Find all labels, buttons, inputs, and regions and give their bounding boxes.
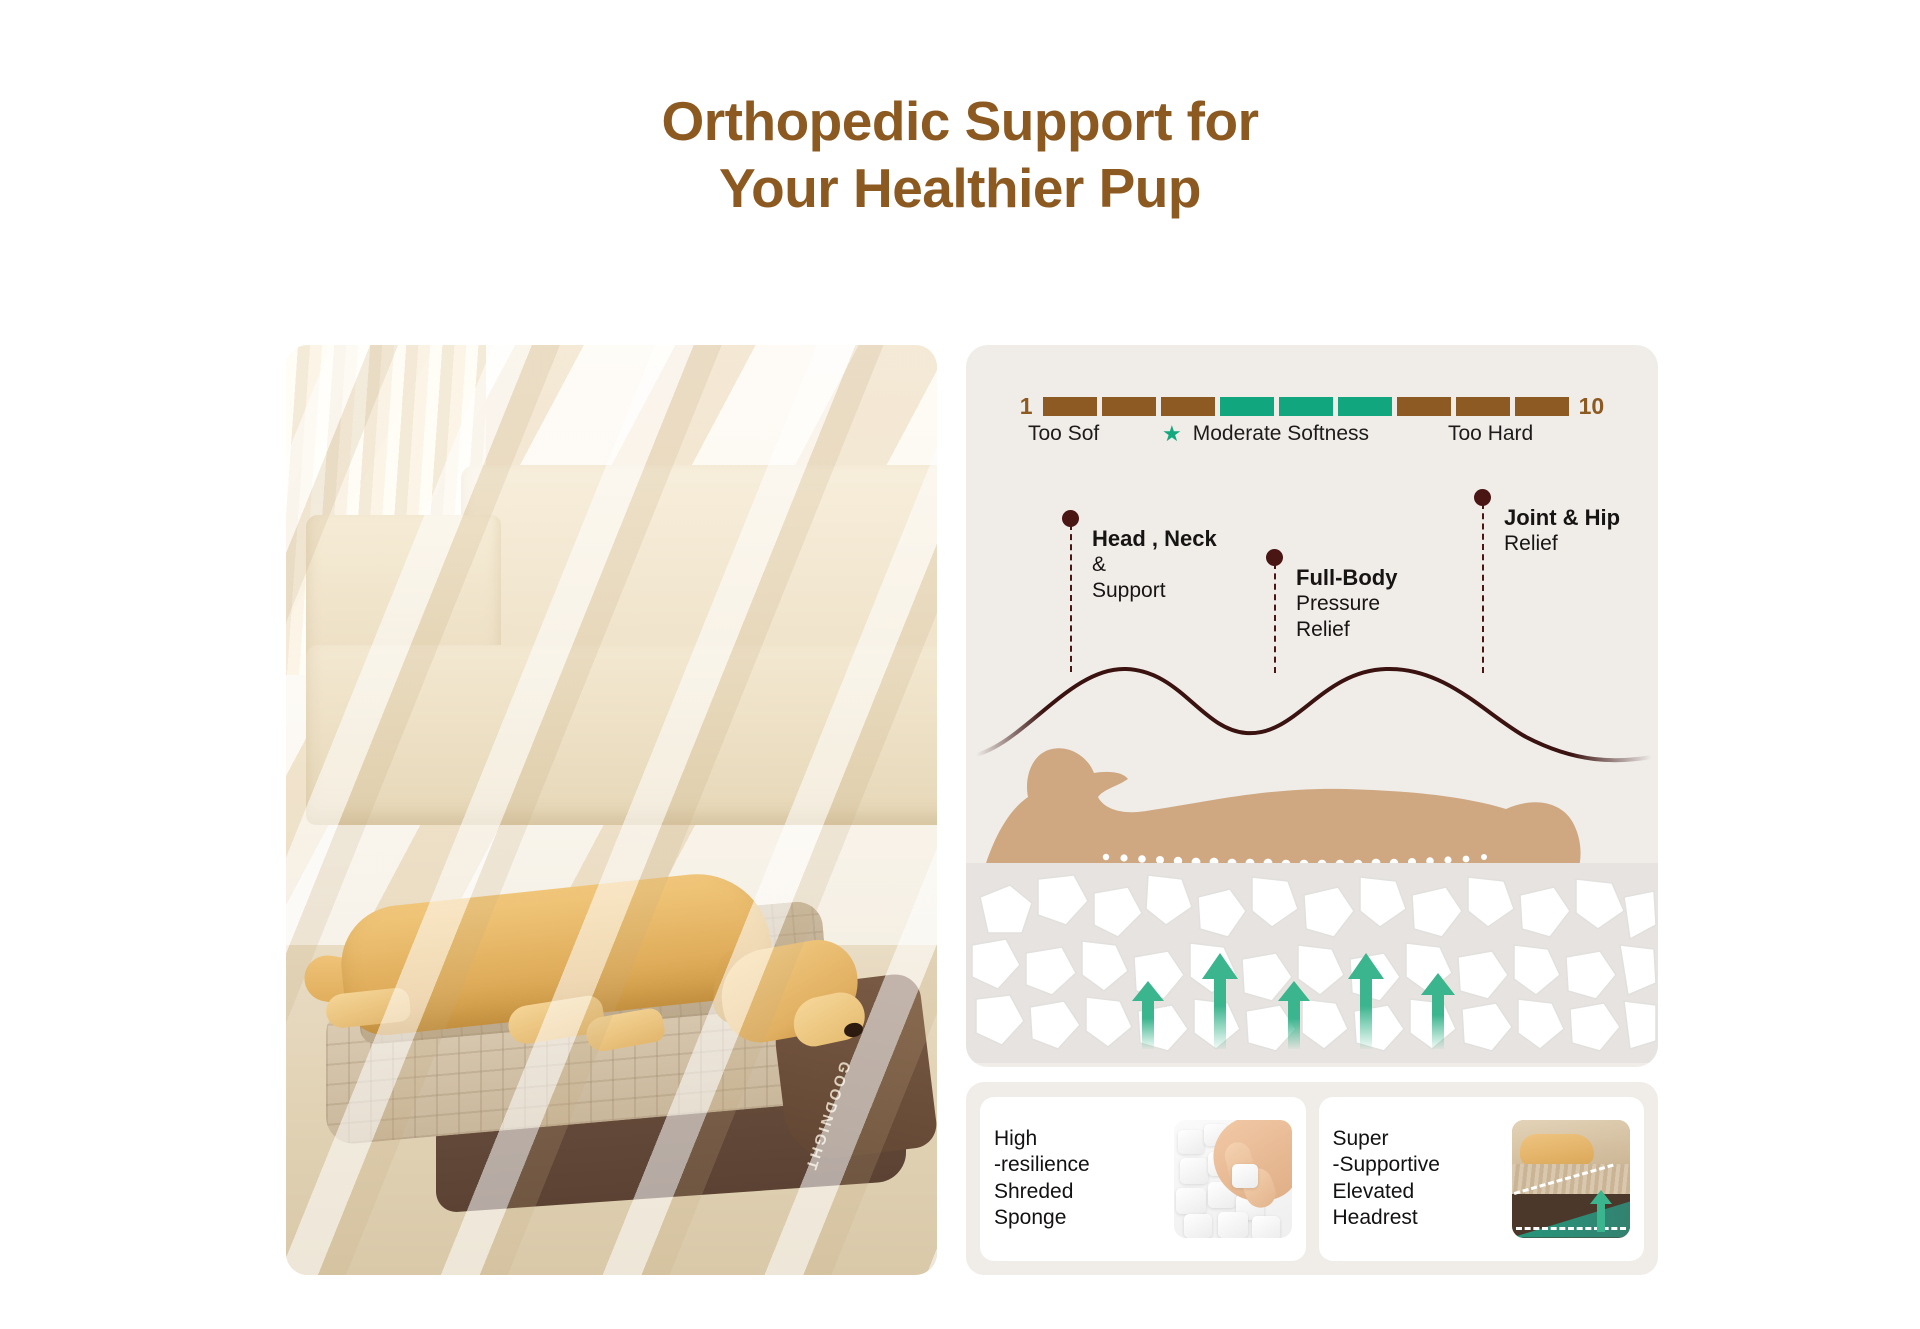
- shredded-foam-layer: [966, 853, 1658, 1067]
- scale-segment-8: [1456, 397, 1510, 416]
- callout-title: Full-Body: [1296, 565, 1397, 591]
- product-photo: GOODNIGHT: [286, 345, 937, 1275]
- headrest-up-arrow-icon: [1588, 1188, 1614, 1232]
- headrest-thumbnail: [1512, 1120, 1630, 1238]
- callout-title: Joint & Hip: [1504, 505, 1620, 531]
- page-title: Orthopedic Support for Your Healthier Pu…: [0, 88, 1920, 222]
- page-title-line-2: Your Healthier Pup: [0, 155, 1920, 222]
- feature-cards-container: High -resilience Shreded Sponge Super -S…: [966, 1082, 1658, 1275]
- sponge-thumbnail: [1174, 1120, 1292, 1238]
- orthopedic-diagram-panel: 1 10 Too Sof ★ Moderate Softness Too Har…: [966, 345, 1658, 1067]
- scale-segment-7: [1397, 397, 1451, 416]
- scale-segment-9: [1515, 397, 1569, 416]
- page-title-line-1: Orthopedic Support for: [0, 88, 1920, 155]
- headrest-dog: [1520, 1134, 1594, 1166]
- scale-min-label: 1: [1020, 393, 1033, 420]
- scale-bar: [1043, 397, 1569, 416]
- scale-segment-1: [1043, 397, 1097, 416]
- scale-segment-4: [1220, 397, 1274, 416]
- star-icon: ★: [1162, 423, 1182, 445]
- scale-label-moderate-group: ★ Moderate Softness: [1162, 422, 1369, 446]
- scale-label-moderate: Moderate Softness: [1193, 422, 1369, 446]
- feature-card-label: High -resilience Shreded Sponge: [994, 1126, 1164, 1230]
- sofa-backrest: [461, 465, 937, 670]
- callout-subtitle: Relief: [1504, 531, 1558, 557]
- callout-subtitle: Pressure Relief: [1296, 591, 1380, 642]
- scale-segment-3: [1161, 397, 1215, 416]
- callout-title: Head , Neck: [1092, 526, 1217, 552]
- scale-label-too-hard: Too Hard: [1448, 422, 1533, 446]
- scale-segment-6: [1338, 397, 1392, 416]
- callout-subtitle: & Support: [1092, 552, 1166, 603]
- feature-card-headrest[interactable]: Super -Supportive Elevated Headrest: [1319, 1097, 1645, 1261]
- scale-label-too-soft: Too Sof: [1028, 422, 1099, 446]
- feature-card-sponge[interactable]: High -resilience Shreded Sponge: [980, 1097, 1306, 1261]
- softness-scale: 1 10: [966, 393, 1658, 420]
- scale-segment-5: [1279, 397, 1333, 416]
- scale-segment-2: [1102, 397, 1156, 416]
- sofa-seat: [306, 645, 937, 825]
- feature-card-label: Super -Supportive Elevated Headrest: [1333, 1126, 1503, 1230]
- scale-max-label: 10: [1579, 393, 1605, 420]
